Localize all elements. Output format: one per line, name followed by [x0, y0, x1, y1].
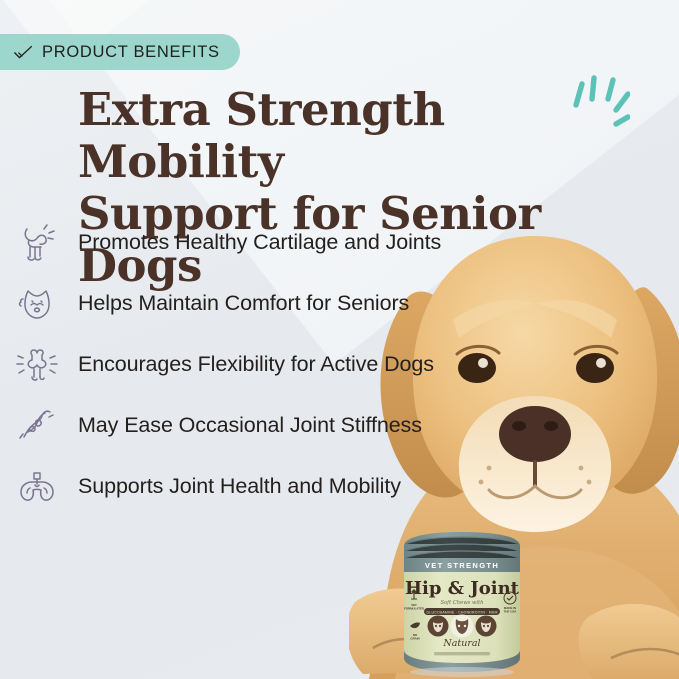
- benefit-item: Supports Joint Health and Mobility: [14, 462, 534, 511]
- product-benefits-badge: PRODUCT BENEFITS: [0, 34, 240, 70]
- jar-subtitle: Soft Chews with: [441, 600, 484, 606]
- benefit-label: Helps Maintain Comfort for Seniors: [78, 291, 409, 316]
- svg-text:FORMULATED: FORMULATED: [404, 606, 424, 610]
- benefits-list: Promotes Healthy Cartilage and Joints He…: [14, 218, 534, 523]
- product-jar: VET STRENGTH Hip & Joint Soft Chews with…: [388, 532, 536, 679]
- jar-natural-label: Natural: [442, 638, 480, 649]
- benefit-item: Helps Maintain Comfort for Seniors: [14, 279, 534, 328]
- check-icon: [14, 45, 33, 60]
- benefit-item: May Ease Occasional Joint Stiffness: [14, 401, 534, 450]
- benefit-item: Promotes Healthy Cartilage and Joints: [14, 218, 534, 267]
- knee-joint-icon: [14, 220, 60, 266]
- infographic-canvas: PRODUCT BENEFITS Extra Strength Mobility…: [0, 0, 679, 679]
- dog-face-icon: [14, 281, 60, 327]
- headline-line-1: Extra Strength Mobility: [78, 83, 445, 188]
- dog-medallion-left: [428, 616, 449, 637]
- jar-fine-print: [434, 652, 490, 655]
- benefit-label: May Ease Occasional Joint Stiffness: [78, 413, 422, 438]
- jar-ingredient-text: GLUCOSAMINE · CHONDROITIN · MSM: [426, 610, 497, 614]
- flexible-bone-icon: [14, 342, 60, 388]
- svg-text:THE USA: THE USA: [504, 609, 518, 613]
- svg-text:GRAIN: GRAIN: [410, 636, 419, 640]
- benefit-label: Encourages Flexibility for Active Dogs: [78, 352, 434, 377]
- jar-product-name: Hip & Joint: [405, 578, 520, 599]
- sparkle-starburst-icon: [566, 72, 630, 130]
- hip-pelvis-icon: [14, 464, 60, 510]
- jar-brand-line: VET STRENGTH: [425, 561, 499, 570]
- joint-stretch-icon: [14, 403, 60, 449]
- badge-label: PRODUCT BENEFITS: [42, 43, 220, 62]
- jar-shadow: [410, 667, 514, 677]
- dog-medallion-center: [451, 615, 474, 638]
- benefit-item: Encourages Flexibility for Active Dogs: [14, 340, 534, 389]
- benefit-label: Promotes Healthy Cartilage and Joints: [78, 230, 441, 255]
- benefit-label: Supports Joint Health and Mobility: [78, 474, 401, 499]
- dog-medallion-right: [476, 616, 497, 637]
